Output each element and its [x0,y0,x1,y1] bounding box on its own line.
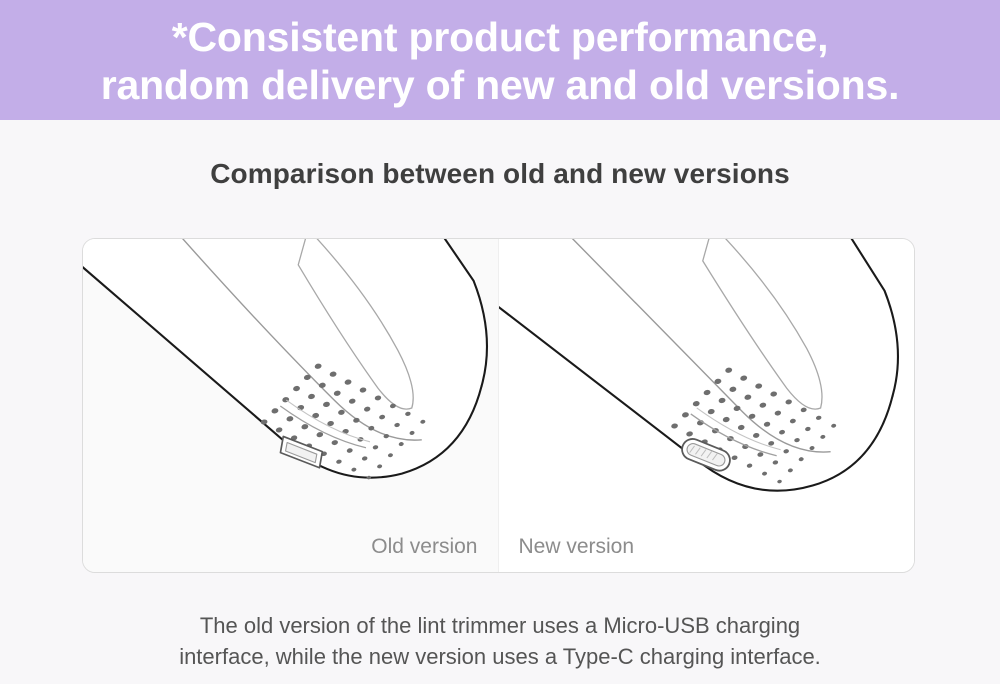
panel-label-new: New version [519,534,635,560]
caption-line-2: interface, while the new version uses a … [0,641,1000,672]
panel-label-old: Old version [371,534,477,560]
panel-new-version: New version [499,239,915,572]
banner-line-2: random delivery of new and old versions. [101,61,900,109]
page-body: Comparison between old and new versions [0,120,1000,684]
caption-block: The old version of the lint trimmer uses… [0,610,1000,672]
comparison-card: Old version [82,238,915,573]
panel-old-version: Old version [83,239,499,572]
banner-line-1: *Consistent product performance, [172,13,829,61]
header-banner: *Consistent product performance, random … [0,0,1000,120]
old-version-device-illustration [83,239,498,572]
caption-line-1: The old version of the lint trimmer uses… [0,610,1000,641]
new-version-device-illustration [499,239,915,572]
section-title: Comparison between old and new versions [0,120,1000,191]
